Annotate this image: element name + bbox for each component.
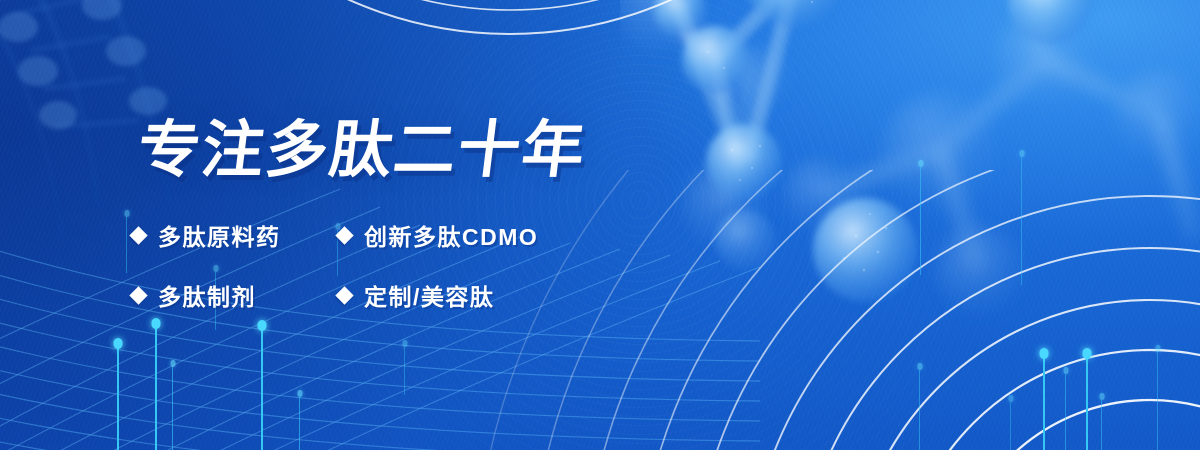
page-title: 专注多肽二十年	[134, 120, 590, 182]
feature-row: 多肽制剂 定制/美容肽	[132, 278, 602, 312]
feature-label: 多肽原料药	[158, 218, 281, 252]
feature-item-peptide-api[interactable]: 多肽原料药	[132, 218, 338, 252]
feature-list: 多肽原料药 创新多肽CDMO 多肽制剂 定制/美容肽	[132, 218, 602, 312]
diamond-bullet-icon	[335, 286, 353, 304]
diamond-bullet-icon	[129, 286, 147, 304]
feature-label: 创新多肽CDMO	[364, 218, 538, 252]
feature-item-innovative-cdmo[interactable]: 创新多肽CDMO	[338, 218, 538, 252]
feature-label: 多肽制剂	[158, 278, 256, 312]
diamond-bullet-icon	[129, 226, 147, 244]
feature-item-peptide-formulation[interactable]: 多肽制剂	[132, 278, 338, 312]
banner-content: 专注多肽二十年 多肽原料药 创新多肽CDMO 多肽制剂	[0, 0, 1200, 450]
feature-label: 定制/美容肽	[364, 278, 494, 312]
promo-banner: 专注多肽二十年 多肽原料药 创新多肽CDMO 多肽制剂	[0, 0, 1200, 450]
feature-item-custom-cosmetic-peptide[interactable]: 定制/美容肽	[338, 278, 494, 312]
diamond-bullet-icon	[335, 226, 353, 244]
feature-row: 多肽原料药 创新多肽CDMO	[132, 218, 602, 252]
